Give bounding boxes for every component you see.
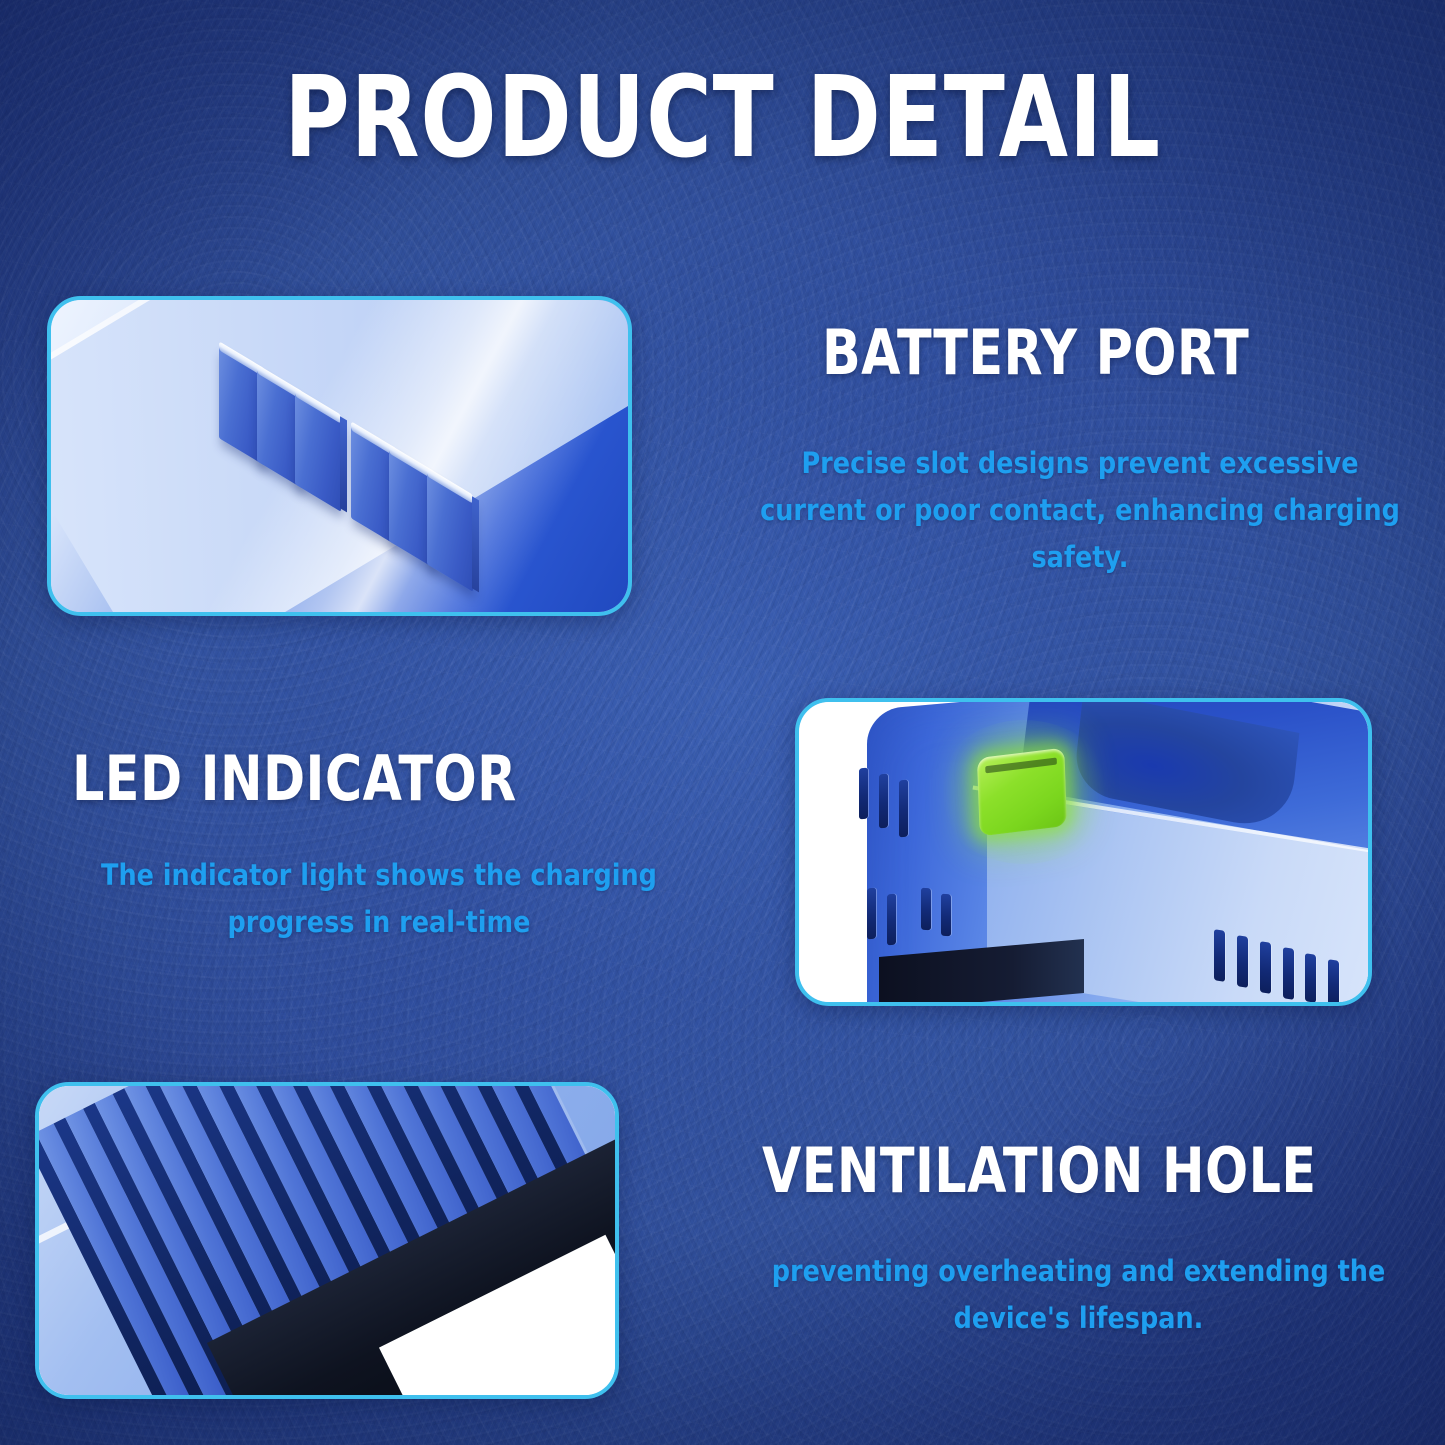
led-indicator-photo bbox=[799, 702, 1368, 1002]
vent-slot bbox=[867, 888, 876, 940]
product-detail-infographic: PRODUCT DETAIL BATTERY PORT Precise slot… bbox=[0, 0, 1445, 1445]
ventilation-hole-heading: VENTILATION HOLE bbox=[762, 1140, 1317, 1202]
vent-slot bbox=[1260, 941, 1271, 994]
battery-port-heading: BATTERY PORT bbox=[822, 322, 1249, 384]
led-indicator-heading: LED INDICATOR bbox=[72, 748, 517, 810]
battery-port-photo bbox=[51, 300, 628, 612]
battery-port-contact-fins bbox=[51, 300, 628, 612]
vent-slot bbox=[879, 774, 888, 829]
vent-slot bbox=[1328, 959, 1339, 1006]
vent-slot bbox=[899, 780, 908, 838]
vent-slot bbox=[1305, 953, 1316, 1003]
vent-slot bbox=[941, 894, 951, 937]
contact-fin bbox=[427, 472, 473, 592]
vent-slot bbox=[1214, 929, 1225, 982]
contact-fin bbox=[295, 392, 341, 512]
ventilation-hole-description: preventing overheating and extending the… bbox=[756, 1248, 1401, 1342]
vent-slot bbox=[1237, 935, 1248, 988]
page-title: PRODUCT DETAIL bbox=[145, 62, 1301, 174]
vent-slot bbox=[921, 888, 931, 931]
led-indicator-photo-card bbox=[795, 698, 1372, 1006]
led-indicator-description: The indicator light shows the charging p… bbox=[70, 852, 688, 946]
vent-slot bbox=[1283, 947, 1294, 1000]
led-indicator-light bbox=[977, 748, 1067, 837]
vent-slot bbox=[887, 894, 896, 946]
ventilation-hole-photo bbox=[39, 1086, 615, 1395]
battery-port-photo-card bbox=[47, 296, 632, 616]
battery-port-description: Precise slot designs prevent excessive c… bbox=[759, 440, 1401, 581]
ventilation-hole-photo-card bbox=[35, 1082, 619, 1399]
vent-slot bbox=[859, 768, 868, 820]
